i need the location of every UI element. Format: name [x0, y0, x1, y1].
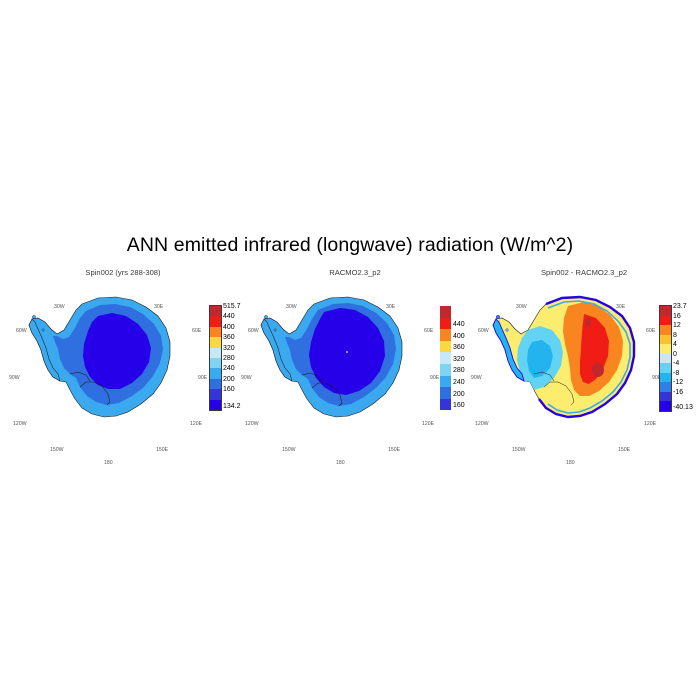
panel-title-difference: Spin002 - RACMO2.3_p2: [470, 268, 698, 277]
colorbar-swatch: [660, 335, 671, 345]
colorbar-tick-label: -16: [673, 389, 683, 396]
colorbar-swatch: [440, 306, 451, 318]
colorbar-swatch: [660, 363, 671, 373]
lon-label-60e: 60E: [192, 328, 201, 334]
map-racmo: 30W 30E 60W 60E 90W 90E 120W 120E 150W 1…: [240, 282, 470, 472]
antarctica-map-difference: [484, 286, 654, 446]
colorbar-swatch: [440, 387, 451, 399]
colorbar-tick-label: 320: [453, 356, 465, 363]
colorbar-swatch: [660, 354, 671, 364]
lon-label-90w: 90W: [9, 375, 20, 381]
colorbar-tick-label: 320: [223, 345, 235, 352]
colorbar-tick-label: 280: [453, 367, 465, 374]
colorbar-swatch: [210, 316, 221, 326]
page-title: ANN emitted infrared (longwave) radiatio…: [0, 234, 700, 257]
colorbar-tick-label: 440: [223, 313, 235, 320]
colorbar-tick-label: 400: [223, 324, 235, 331]
colorbar-swatch: [440, 329, 451, 341]
lon-label-120e: 120E: [422, 421, 434, 427]
colorbar-tick-label: 200: [223, 376, 235, 383]
colorbar-tick-label: 280: [223, 355, 235, 362]
colorbar-swatch: [660, 382, 671, 392]
colorbar-swatch: [660, 325, 671, 335]
antarctica-map-spin002: [20, 286, 190, 446]
colorbar-swatch: [210, 348, 221, 358]
colorbar-tick-label: 12: [673, 322, 681, 329]
colorbar-swatch: [440, 399, 451, 411]
lon-label-180: 180: [336, 460, 345, 466]
panel-title-racmo: RACMO2.3_p2: [240, 268, 470, 277]
lon-label-90w: 90W: [241, 375, 252, 381]
colorbar-swatch: [210, 389, 221, 399]
lon-label-150e: 150E: [618, 447, 630, 453]
colorbar-tick-label: 240: [223, 365, 235, 372]
colorbar-swatch: [210, 306, 221, 316]
lon-label-90e: 90E: [198, 375, 207, 381]
panel-title-spin002: Spin002 (yrs 288-308): [8, 268, 238, 277]
lon-label-150w: 150W: [512, 447, 526, 453]
lon-label-180: 180: [566, 460, 575, 466]
lon-label-150w: 150W: [50, 447, 64, 453]
colorbar-swatch: [210, 379, 221, 389]
colorbar-tick-label: 360: [223, 334, 235, 341]
colorbar-tick-label: -12: [673, 379, 683, 386]
colorbar-swatch: [660, 344, 671, 354]
colorbar-tick-label: 240: [453, 379, 465, 386]
lon-label-90e: 90E: [430, 375, 439, 381]
colorbar-swatch: [660, 392, 671, 402]
colorbar-max-label: 515.7: [223, 303, 241, 310]
antarctica-map-racmo: [252, 286, 422, 446]
lon-label-150e: 150E: [156, 447, 168, 453]
colorbar-swatch: [210, 358, 221, 368]
panel-spin002: Spin002 (yrs 288-308) 30W 30E 60W 60E 90…: [8, 268, 238, 473]
colorbar-swatch: [660, 316, 671, 326]
colorbar-swatch: [660, 401, 671, 411]
colorbar-swatch: [210, 400, 221, 410]
colorbar-swatches-difference: [660, 306, 671, 411]
colorbar-tick-label: 400: [453, 333, 465, 340]
figure-canvas: ANN emitted infrared (longwave) radiatio…: [0, 0, 700, 700]
colorbar-tick-label: -8: [673, 370, 679, 377]
lon-label-150w: 150W: [282, 447, 296, 453]
map-difference: 30W 30E 60W 60E 90W 90E 120W 120E 150W 1…: [470, 282, 698, 472]
colorbar-tick-label: 16: [673, 313, 681, 320]
colorbar-swatch: [440, 352, 451, 364]
lon-label-180: 180: [104, 460, 113, 466]
colorbar-swatch: [440, 318, 451, 330]
colorbar-min-label: -40.13: [673, 404, 693, 411]
colorbar-tick-label: 200: [453, 391, 465, 398]
colorbar-swatch: [660, 306, 671, 316]
colorbar-swatch: [210, 368, 221, 378]
colorbar-swatch: [440, 341, 451, 353]
lon-label-90w: 90W: [471, 375, 482, 381]
colorbar-swatches-racmo: [440, 306, 451, 410]
colorbar-tick-label: 8: [673, 332, 677, 339]
colorbar-tick-label: 0: [673, 351, 677, 358]
colorbar-swatch: [210, 327, 221, 337]
colorbar-swatch: [440, 376, 451, 388]
colorbar-swatch: [210, 337, 221, 347]
colorbar-swatch: [660, 373, 671, 383]
colorbar-tick-label: 440: [453, 321, 465, 328]
colorbar-swatches-spin002: [210, 306, 221, 410]
lon-label-60e: 60E: [424, 328, 433, 334]
colorbar-tick-label: 160: [223, 386, 235, 393]
colorbar-swatch: [440, 364, 451, 376]
colorbar-tick-label: 160: [453, 402, 465, 409]
colorbar-max-label: 23.7: [673, 303, 687, 310]
lon-label-150e: 150E: [388, 447, 400, 453]
panel-difference: Spin002 - RACMO2.3_p2 30W 30E 60W 60E 90…: [470, 268, 698, 473]
colorbar-min-label: 134.2: [223, 403, 241, 410]
map-spin002: 30W 30E 60W 60E 90W 90E 120W 120E 150W 1…: [8, 282, 238, 472]
colorbar-tick-label: -4: [673, 360, 679, 367]
lon-label-120e: 120E: [190, 421, 202, 427]
panel-racmo: RACMO2.3_p2 30W 30E 60W 60E 90W 90E 120W…: [240, 268, 470, 473]
colorbar-tick-label: 360: [453, 344, 465, 351]
colorbar-racmo: 440 400 360 320 280 240 200 160: [426, 306, 472, 320]
colorbar-tick-label: 4: [673, 341, 677, 348]
